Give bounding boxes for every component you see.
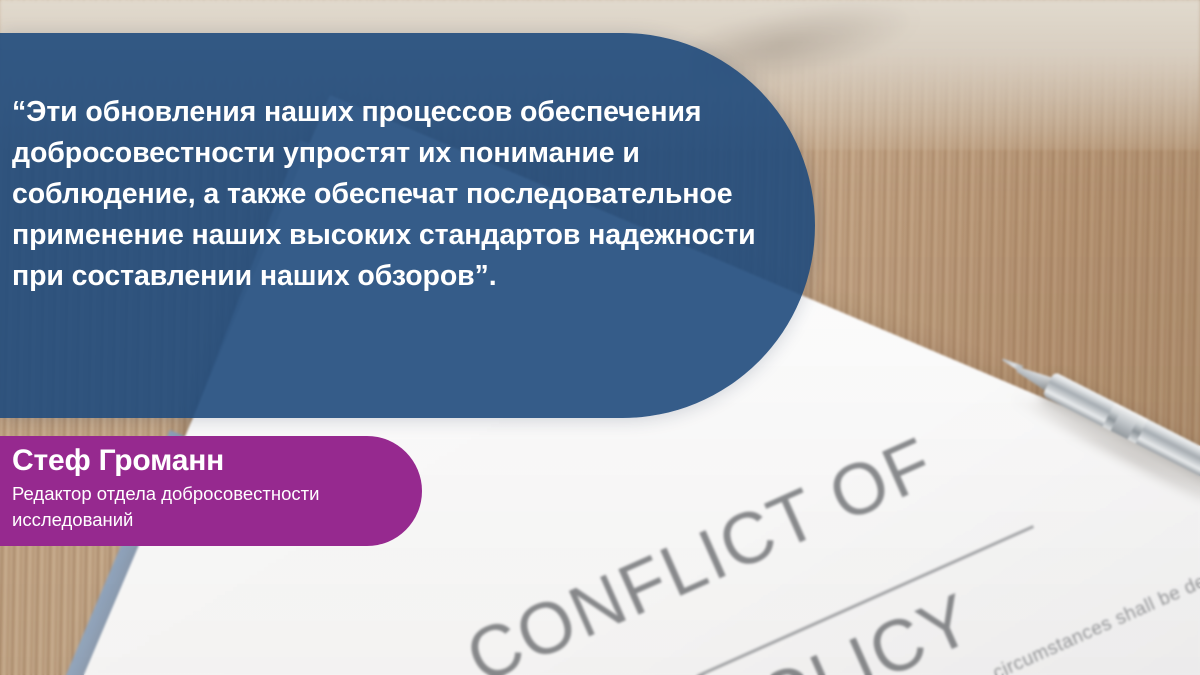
attribution-role: Редактор отдела добросовестности исследо…: [12, 481, 412, 533]
quote-text: “Эти обновления наших процессов обеспече…: [12, 92, 822, 297]
attribution-name: Стеф Громанн: [12, 443, 224, 479]
quote-card: CONFLICT OF POLICY circumstances shall b…: [0, 0, 1200, 675]
